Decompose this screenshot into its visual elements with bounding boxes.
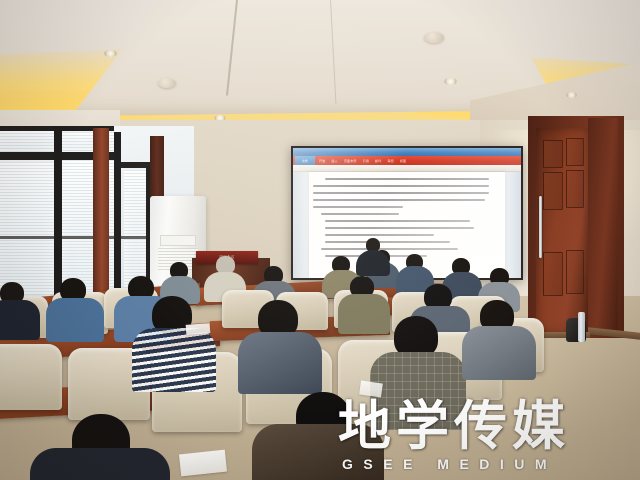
ribbon-tab-list: 开始 插入 页面布局 引用 邮件 审阅 视图: [319, 156, 469, 165]
attendee-body: [30, 448, 170, 480]
document-text-line: [325, 241, 450, 243]
secondary-toolbar: [293, 165, 521, 172]
wood-wall-panel: [588, 118, 618, 334]
ribbon-tab[interactable]: 视图: [400, 159, 406, 163]
attendee-body: [46, 298, 104, 342]
document-margin-left: [293, 172, 309, 278]
door-panel: [543, 140, 563, 168]
document-text-line: [325, 178, 490, 180]
ceiling-speaker: [158, 78, 176, 88]
door-panel: [543, 252, 563, 296]
ceiling-spotlight: [566, 92, 577, 98]
ceiling-spotlight: [104, 50, 117, 57]
ribbon-tab[interactable]: 页面布局: [344, 159, 357, 163]
document-text-line: [321, 213, 399, 215]
document-text-line: [325, 234, 435, 236]
door-panel: [566, 250, 584, 294]
ceiling-speaker: [424, 32, 444, 43]
window-titlebar: [293, 148, 521, 156]
document-text-line: [313, 192, 489, 194]
door-panel: [566, 170, 584, 208]
attendee-body-plaid: [370, 352, 466, 430]
presenter-body: [356, 250, 390, 276]
document-text-line: [313, 206, 403, 208]
document-margin-right: [505, 172, 521, 278]
ribbon-tab[interactable]: 审阅: [387, 159, 393, 163]
ceiling-spotlight: [444, 78, 457, 85]
attendee-body-striped: [132, 328, 216, 392]
ribbon-tab[interactable]: 开始: [319, 159, 325, 163]
document-text-line: [321, 248, 458, 250]
window-blinds: [0, 130, 54, 154]
attendee-body: [462, 326, 536, 380]
attendee-body: [338, 294, 390, 334]
conference-room-photo: 培训会议 文件 开始 插入 页面布局 引用 邮件 审阅 视图: [0, 0, 640, 480]
window-blinds: [124, 170, 148, 288]
window-wood-column: [93, 128, 109, 312]
door-panel: [543, 172, 563, 210]
window-mullion-vertical: [114, 132, 121, 304]
water-bottle: [578, 312, 585, 342]
door-handle[interactable]: [539, 196, 542, 258]
ribbon-tab[interactable]: 引用: [363, 159, 369, 163]
document-text-line: [325, 220, 470, 222]
air-conditioner-display-panel: [160, 235, 196, 246]
ribbon-tab[interactable]: 邮件: [375, 159, 381, 163]
window-blinds: [0, 162, 54, 302]
conference-chair[interactable]: [0, 344, 62, 410]
handout-paper: [359, 381, 383, 398]
window-mullion-horizontal: [0, 236, 150, 239]
document-text-line: [313, 199, 485, 201]
file-menu-button[interactable]: 文件: [295, 156, 315, 165]
attendee-body: [252, 424, 384, 480]
attendee-body: [238, 332, 322, 394]
attendee-body: [0, 300, 40, 340]
door-panel: [566, 138, 584, 166]
handout-paper: [186, 323, 211, 335]
document-text-line: [313, 185, 489, 187]
document-text-line: [325, 227, 474, 229]
ribbon-tab[interactable]: 插入: [331, 159, 337, 163]
